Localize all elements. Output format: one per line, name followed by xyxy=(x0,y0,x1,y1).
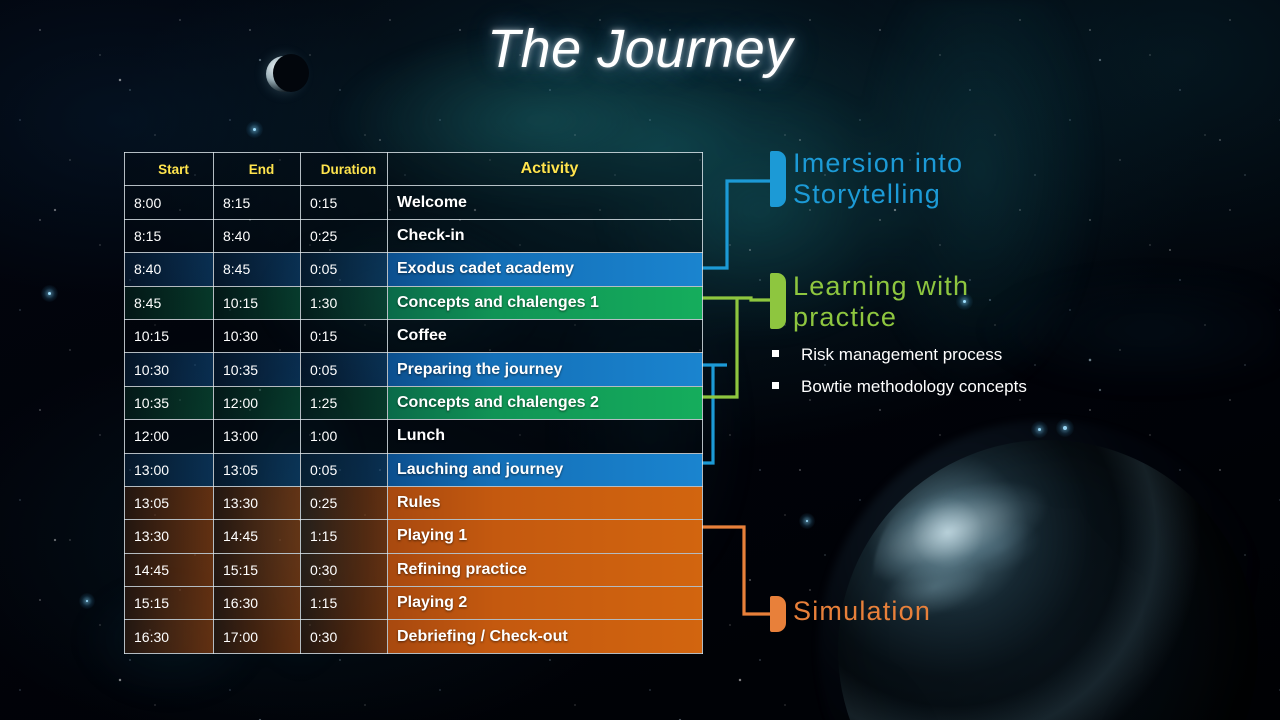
table-row: 10:3010:350:05Preparing the journey xyxy=(125,353,703,386)
column-header-duration-label: Duration xyxy=(301,162,387,177)
cell-activity: Check-in xyxy=(388,219,703,252)
cell-end-label: 8:45 xyxy=(214,261,300,277)
bright-star xyxy=(86,600,88,602)
cell-activity: Preparing the journey xyxy=(388,353,703,386)
cell-duration: 0:30 xyxy=(301,620,388,653)
cell-activity: Playing 2 xyxy=(388,587,703,620)
section-label-learning: Learning with practice xyxy=(793,271,969,333)
cell-activity: Refining practice xyxy=(388,553,703,586)
cell-start-label: 15:15 xyxy=(125,595,213,611)
column-header-end: End xyxy=(214,153,301,186)
cell-activity-label: Exodus cadet academy xyxy=(388,260,702,278)
table-row: 8:408:450:05Exodus cadet academy xyxy=(125,253,703,286)
cell-activity: Lunch xyxy=(388,420,703,453)
cell-duration-label: 0:25 xyxy=(301,495,387,511)
cell-activity: Welcome xyxy=(388,186,703,219)
cell-activity: Exodus cadet academy xyxy=(388,253,703,286)
bright-star xyxy=(48,292,51,295)
cell-duration: 0:30 xyxy=(301,553,388,586)
cell-start: 10:15 xyxy=(125,319,214,352)
slide-title: The Journey xyxy=(0,18,1280,80)
table-row: 14:4515:150:30Refining practice xyxy=(125,553,703,586)
cell-start: 8:15 xyxy=(125,219,214,252)
cell-activity-label: Welcome xyxy=(388,194,702,212)
cell-duration: 0:15 xyxy=(301,186,388,219)
cell-start: 10:30 xyxy=(125,353,214,386)
cell-duration-label: 0:25 xyxy=(301,228,387,244)
cell-duration-label: 0:30 xyxy=(301,562,387,578)
table-body: 8:008:150:15Welcome8:158:400:25Check-in8… xyxy=(125,186,703,653)
cell-activity-label: Concepts and chalenges 2 xyxy=(388,394,702,412)
cell-start: 8:45 xyxy=(125,286,214,319)
column-header-activity-label: Activity xyxy=(388,160,702,178)
cell-end: 14:45 xyxy=(214,520,301,553)
cell-duration-label: 0:15 xyxy=(301,195,387,211)
cell-duration-label: 1:25 xyxy=(301,395,387,411)
bullet-bowtie-methodology: Bowtie methodology concepts xyxy=(772,377,1027,397)
cell-activity: Debriefing / Check-out xyxy=(388,620,703,653)
cell-start-label: 10:15 xyxy=(125,328,213,344)
cell-start-label: 12:00 xyxy=(125,428,213,444)
cell-duration: 0:05 xyxy=(301,253,388,286)
cell-duration: 1:25 xyxy=(301,386,388,419)
cell-duration-label: 1:30 xyxy=(301,295,387,311)
cell-start: 15:15 xyxy=(125,587,214,620)
cell-start-label: 8:45 xyxy=(125,295,213,311)
cell-start-label: 13:00 xyxy=(125,462,213,478)
table-row: 16:3017:000:30Debriefing / Check-out xyxy=(125,620,703,653)
table-row: 15:1516:301:15Playing 2 xyxy=(125,587,703,620)
cell-duration: 1:30 xyxy=(301,286,388,319)
table-header-row: Start End Duration Activity xyxy=(125,153,703,186)
column-header-duration: Duration xyxy=(301,153,388,186)
cell-end: 13:05 xyxy=(214,453,301,486)
cell-activity-label: Check-in xyxy=(388,227,702,245)
cell-duration: 1:15 xyxy=(301,587,388,620)
cell-end-label: 15:15 xyxy=(214,562,300,578)
presentation-slide: The Journey Start End xyxy=(0,0,1280,720)
cell-duration-label: 0:05 xyxy=(301,462,387,478)
table-row: 13:0513:300:25Rules xyxy=(125,486,703,519)
bullet-square-icon xyxy=(772,382,779,389)
cell-end: 10:35 xyxy=(214,353,301,386)
cell-start: 8:40 xyxy=(125,253,214,286)
cell-end: 10:15 xyxy=(214,286,301,319)
cell-end-label: 10:35 xyxy=(214,362,300,378)
schedule-table: Start End Duration Activity 8:008:150:15… xyxy=(124,152,703,654)
cell-end: 8:45 xyxy=(214,253,301,286)
cell-start: 8:00 xyxy=(125,186,214,219)
section-marker-immersion xyxy=(770,151,786,207)
cell-end: 12:00 xyxy=(214,386,301,419)
cell-duration: 1:15 xyxy=(301,520,388,553)
cell-start-label: 10:35 xyxy=(125,395,213,411)
column-header-start-label: Start xyxy=(125,162,213,177)
cell-end-label: 16:30 xyxy=(214,595,300,611)
bullet-text: Risk management process xyxy=(801,345,1002,364)
bullet-text: Bowtie methodology concepts xyxy=(801,377,1027,396)
table-row: 10:3512:001:25Concepts and chalenges 2 xyxy=(125,386,703,419)
bright-star xyxy=(253,128,256,131)
cell-duration: 1:00 xyxy=(301,420,388,453)
cell-start-label: 10:30 xyxy=(125,362,213,378)
cell-end-label: 14:45 xyxy=(214,528,300,544)
cell-duration: 0:15 xyxy=(301,319,388,352)
cell-start: 14:45 xyxy=(125,553,214,586)
column-header-end-label: End xyxy=(214,162,300,177)
table-row: 13:0013:050:05Lauching and journey xyxy=(125,453,703,486)
cell-duration-label: 0:30 xyxy=(301,629,387,645)
cell-end: 17:00 xyxy=(214,620,301,653)
table-row: 8:4510:151:30Concepts and chalenges 1 xyxy=(125,286,703,319)
table-row: 8:158:400:25Check-in xyxy=(125,219,703,252)
cell-start: 12:00 xyxy=(125,420,214,453)
cell-duration: 0:25 xyxy=(301,486,388,519)
cell-activity: Coffee xyxy=(388,319,703,352)
cell-start-label: 14:45 xyxy=(125,562,213,578)
cell-start: 13:30 xyxy=(125,520,214,553)
table-row: 10:1510:300:15Coffee xyxy=(125,319,703,352)
cell-end: 8:15 xyxy=(214,186,301,219)
section-marker-learning xyxy=(770,273,786,329)
cell-activity-label: Rules xyxy=(388,494,702,512)
cell-start: 13:00 xyxy=(125,453,214,486)
cell-activity-label: Lunch xyxy=(388,427,702,445)
cell-activity-label: Preparing the journey xyxy=(388,361,702,379)
column-header-start: Start xyxy=(125,153,214,186)
table-row: 13:3014:451:15Playing 1 xyxy=(125,520,703,553)
table-row: 12:0013:001:00Lunch xyxy=(125,420,703,453)
connector-simulation xyxy=(699,527,772,614)
cell-activity: Playing 1 xyxy=(388,520,703,553)
cell-end: 15:15 xyxy=(214,553,301,586)
bright-star xyxy=(806,520,808,522)
cell-activity-label: Concepts and chalenges 1 xyxy=(388,294,702,312)
cell-end: 13:00 xyxy=(214,420,301,453)
cell-end-label: 12:00 xyxy=(214,395,300,411)
cell-start-label: 13:30 xyxy=(125,528,213,544)
cell-end: 10:30 xyxy=(214,319,301,352)
cell-activity: Concepts and chalenges 2 xyxy=(388,386,703,419)
connector-immersion xyxy=(699,181,772,463)
cell-end-label: 10:15 xyxy=(214,295,300,311)
cell-activity-label: Lauching and journey xyxy=(388,461,702,479)
cell-duration-label: 0:05 xyxy=(301,261,387,277)
bullet-square-icon xyxy=(772,350,779,357)
cell-activity-label: Refining practice xyxy=(388,561,702,579)
section-marker-simulation xyxy=(770,596,786,632)
cell-end-label: 10:30 xyxy=(214,328,300,344)
cell-activity: Concepts and chalenges 1 xyxy=(388,286,703,319)
cell-end-label: 8:40 xyxy=(214,228,300,244)
cell-end: 13:30 xyxy=(214,486,301,519)
cell-start-label: 8:15 xyxy=(125,228,213,244)
cell-duration-label: 1:15 xyxy=(301,528,387,544)
cell-start: 13:05 xyxy=(125,486,214,519)
cell-end: 8:40 xyxy=(214,219,301,252)
cell-duration: 0:25 xyxy=(301,219,388,252)
cell-end: 16:30 xyxy=(214,587,301,620)
cell-duration-label: 1:15 xyxy=(301,595,387,611)
cell-activity: Rules xyxy=(388,486,703,519)
cell-duration-label: 0:15 xyxy=(301,328,387,344)
column-header-activity: Activity xyxy=(388,153,703,186)
cell-duration-label: 1:00 xyxy=(301,428,387,444)
cell-activity: Lauching and journey xyxy=(388,453,703,486)
cell-duration: 0:05 xyxy=(301,453,388,486)
cell-duration: 0:05 xyxy=(301,353,388,386)
cell-activity-label: Playing 2 xyxy=(388,594,702,612)
cell-end-label: 13:00 xyxy=(214,428,300,444)
cell-activity-label: Coffee xyxy=(388,327,702,345)
cell-activity-label: Debriefing / Check-out xyxy=(388,628,702,646)
cell-activity-label: Playing 1 xyxy=(388,527,702,545)
cell-end-label: 17:00 xyxy=(214,629,300,645)
section-label-immersion: Imersion into Storytelling xyxy=(793,148,963,210)
cell-start-label: 16:30 xyxy=(125,629,213,645)
cell-start-label: 8:40 xyxy=(125,261,213,277)
section-label-simulation: Simulation xyxy=(793,596,931,627)
cell-end-label: 13:05 xyxy=(214,462,300,478)
table-row: 8:008:150:15Welcome xyxy=(125,186,703,219)
cell-end-label: 13:30 xyxy=(214,495,300,511)
cell-start: 16:30 xyxy=(125,620,214,653)
cell-start-label: 8:00 xyxy=(125,195,213,211)
bullet-risk-management: Risk management process xyxy=(772,345,1002,365)
cell-duration-label: 0:05 xyxy=(301,362,387,378)
cell-start-label: 13:05 xyxy=(125,495,213,511)
cell-start: 10:35 xyxy=(125,386,214,419)
cell-end-label: 8:15 xyxy=(214,195,300,211)
connector-learning xyxy=(699,298,772,397)
